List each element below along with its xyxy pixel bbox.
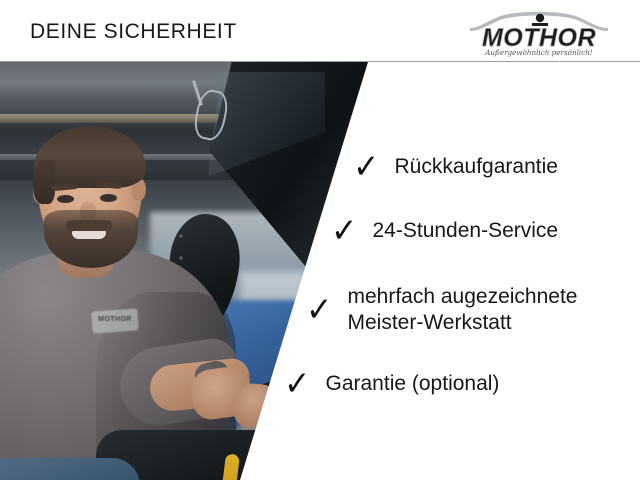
check-icon: ✓ (284, 367, 310, 401)
slide-deine-sicherheit: DEINE SICHERHEIT MOTHOR Außergewöhnlich … (0, 0, 640, 480)
benefit-item-3[interactable]: ✓ mehrfach augezeichnete Meister-Werksta… (305, 284, 578, 335)
benefit-label-4: Garantie (optional) (326, 371, 500, 397)
benefit-item-2[interactable]: ✓ 24-Stunden-Service (330, 214, 558, 248)
logo-dot-icon (536, 14, 544, 22)
brand-logo[interactable]: MOTHOR Außergewöhnlich persönlich! (464, 6, 614, 58)
header-bar: DEINE SICHERHEIT MOTHOR Außergewöhnlich … (0, 0, 640, 62)
check-icon: ✓ (331, 214, 357, 248)
benefit-label-1: Rückkaufgarantie (395, 154, 558, 180)
check-icon: ✓ (306, 293, 332, 327)
logo-tagline: Außergewöhnlich persönlich! (484, 48, 593, 57)
mothor-logo-svg: MOTHOR Außergewöhnlich persönlich! (464, 6, 614, 58)
page-title: DEINE SICHERHEIT (30, 20, 237, 44)
benefit-label-2: 24-Stunden-Service (373, 218, 559, 244)
benefit-item-4[interactable]: ✓ Garantie (optional) (283, 367, 499, 401)
benefit-label-3: mehrfach augezeichnete Meister-Werkstatt (348, 284, 578, 335)
header-divider (0, 61, 640, 62)
check-icon: ✓ (353, 150, 379, 184)
benefits-list: ✓ Rückkaufgarantie ✓ 24-Stunden-Service … (0, 62, 640, 480)
benefit-item-1[interactable]: ✓ Rückkaufgarantie (352, 150, 558, 184)
